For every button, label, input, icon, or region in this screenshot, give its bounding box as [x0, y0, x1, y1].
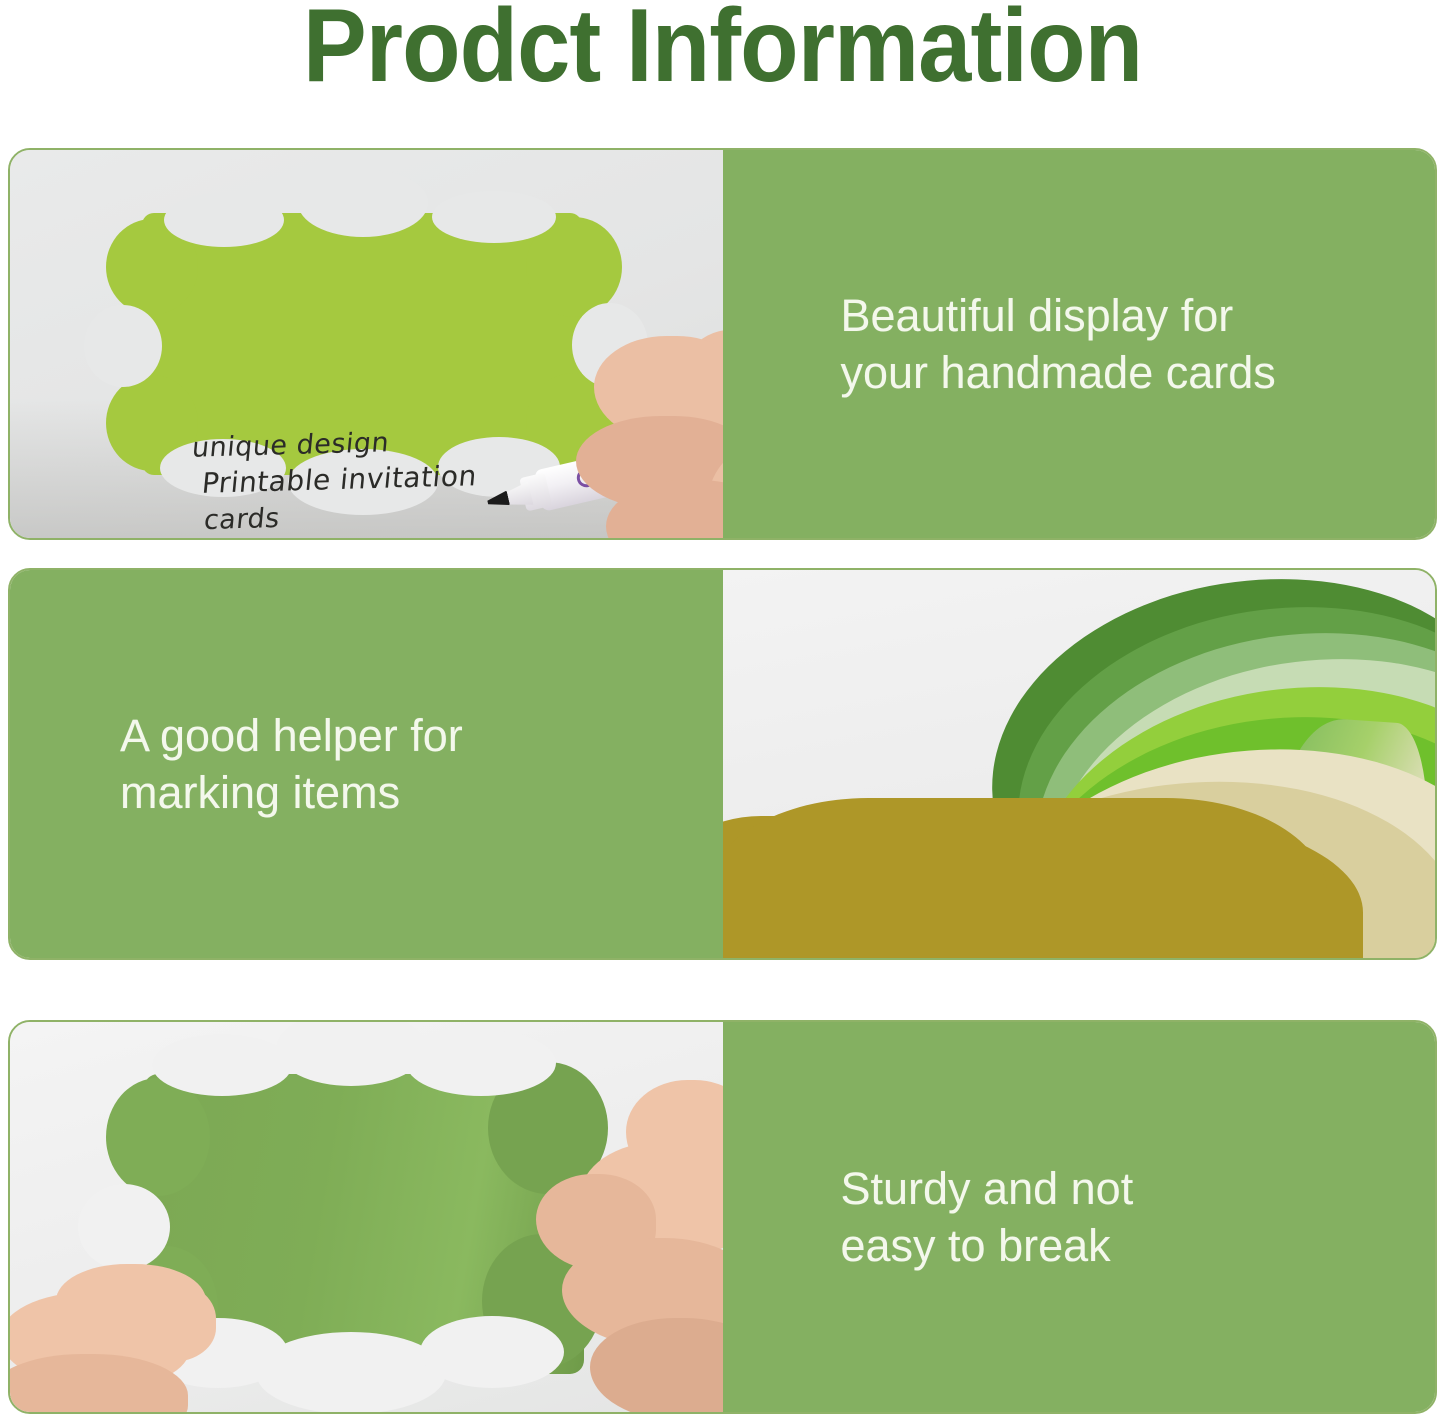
hand-right-bending-card: [518, 1080, 723, 1412]
feature-row-sturdy: Sturdy and not easy to break: [8, 1020, 1437, 1414]
caption-panel-sturdy: Sturdy and not easy to break: [723, 1022, 1436, 1412]
caption-line-2: your handmade cards: [841, 344, 1276, 401]
product-photo-card-stack: [723, 570, 1436, 958]
caption-panel-good-helper: A good helper for marking items: [10, 570, 723, 958]
card-notch: [432, 191, 556, 243]
caption-text: A good helper for marking items: [10, 707, 483, 821]
handwritten-line-1: unique design: [190, 425, 390, 466]
feature-row-beautiful-display: unique design Printable invitation cards…: [8, 148, 1437, 540]
caption-line-1: Sturdy and not: [841, 1160, 1134, 1217]
handwritten-line-3: cards: [202, 501, 281, 538]
product-photo-bending-card: [10, 1022, 723, 1412]
card-lobe: [106, 1078, 210, 1196]
feature-row-good-helper: A good helper for marking items: [8, 568, 1437, 960]
caption-panel-beautiful-display: Beautiful display for your handmade card…: [723, 150, 1436, 538]
card-notch: [164, 193, 284, 247]
card-notch: [298, 169, 428, 237]
card-stack-front: [723, 798, 1327, 958]
hand-holding-marker: [576, 330, 723, 538]
page-title: Prodct Information: [58, 0, 1387, 98]
caption-line-1: Beautiful display for: [841, 287, 1276, 344]
caption-line-2: marking items: [120, 764, 463, 821]
caption-line-2: easy to break: [841, 1217, 1134, 1274]
marker-tip: [485, 490, 510, 510]
caption-line-1: A good helper for: [120, 707, 463, 764]
card-notch: [152, 1034, 292, 1096]
product-photo-writing-on-card: unique design Printable invitation cards…: [10, 150, 723, 538]
hand-left-holding-card: [10, 1258, 250, 1412]
card-notch: [84, 305, 162, 387]
caption-text: Sturdy and not easy to break: [723, 1160, 1154, 1274]
caption-text: Beautiful display for your handmade card…: [723, 287, 1296, 401]
